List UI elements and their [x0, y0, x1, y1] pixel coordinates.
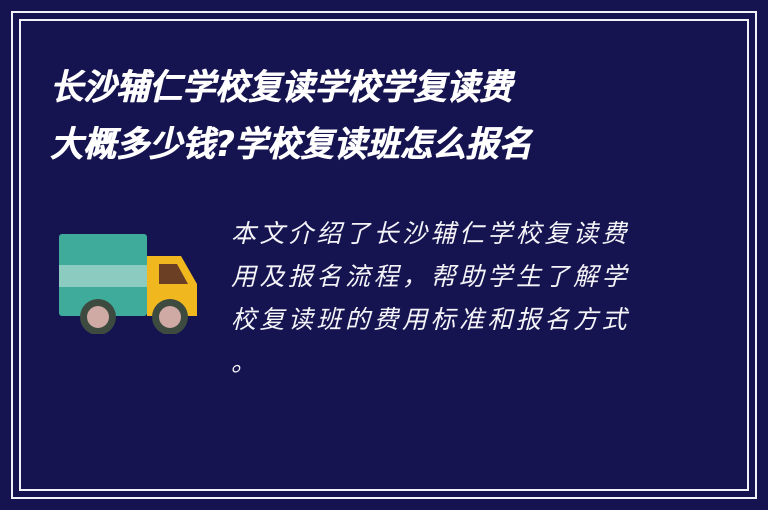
body-copy-line-2: 用及报名流程，帮助学生了解学 — [231, 255, 655, 298]
body-copy-text: 本文介绍了长沙辅仁学校复读费 用及报名流程，帮助学生了解学 校复读班的费用标准和… — [231, 212, 655, 384]
truck-cargo-stripe — [59, 265, 147, 287]
headline-title: 长沙辅仁学校复读学校学复读费 大概多少钱?学校复读班怎么报名 — [50, 60, 670, 174]
headline-line-1: 长沙辅仁学校复读学校学复读费 — [50, 60, 627, 117]
headline-line-2: 大概多少钱?学校复读班怎么报名 — [50, 117, 627, 174]
delivery-truck-illustration — [58, 222, 206, 334]
body-copy-line-4: 。 — [231, 341, 655, 384]
body-copy-line-1: 本文介绍了长沙辅仁学校复读费 — [231, 212, 655, 255]
truck-front-wheel-hub — [159, 306, 181, 328]
body-copy-line-3: 校复读班的费用标准和报名方式 — [231, 298, 655, 341]
truck-rear-wheel-hub — [87, 306, 109, 328]
poster-canvas: 长沙辅仁学校复读学校学复读费 大概多少钱?学校复读班怎么报名 本文介绍了长沙辅仁… — [0, 0, 768, 510]
